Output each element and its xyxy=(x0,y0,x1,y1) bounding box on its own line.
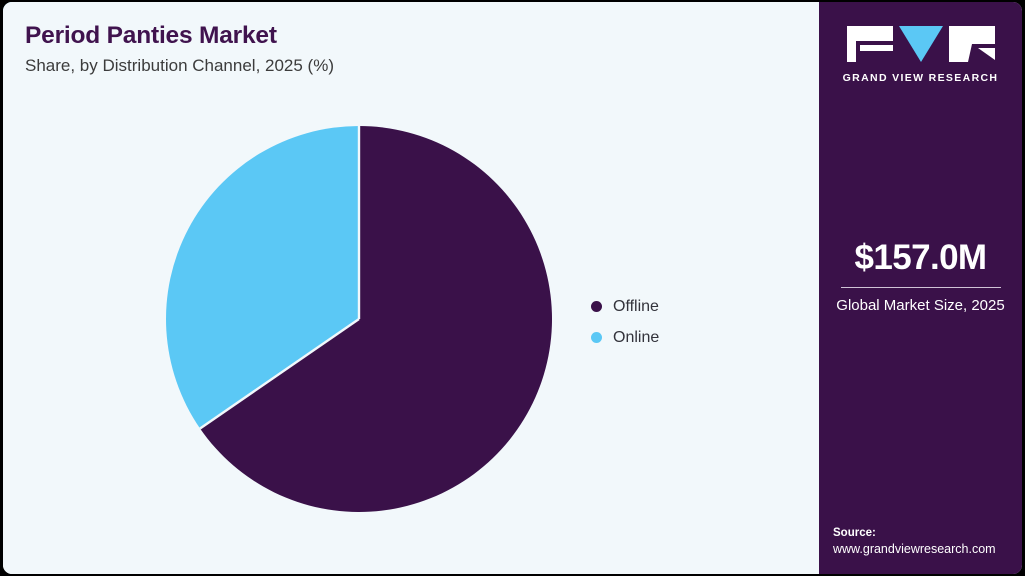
page-title: Period Panties Market xyxy=(25,22,785,50)
legend-swatch-icon-online xyxy=(591,332,602,343)
gvr-logo-icon xyxy=(847,24,995,64)
pie-chart xyxy=(163,123,555,515)
brand-logo: GRAND VIEW RESEARCH xyxy=(819,24,1022,84)
legend-swatch-icon-offline xyxy=(591,301,602,312)
chart-card: Period Panties Market Share, by Distribu… xyxy=(3,2,1022,574)
legend-label-online: Online xyxy=(613,329,659,347)
legend-item-online[interactable]: Online xyxy=(591,322,659,353)
chart-subtitle: Share, by Distribution Channel, 2025 (%) xyxy=(25,56,785,76)
source-block: Source: www.grandviewresearch.com xyxy=(833,526,1022,558)
legend-item-offline[interactable]: Offline xyxy=(591,291,659,322)
source-label: Source: xyxy=(833,526,1022,542)
legend-label-offline: Offline xyxy=(613,298,659,316)
market-size-value: $157.0M xyxy=(819,239,1022,278)
pie-chart-svg xyxy=(163,123,555,515)
source-url[interactable]: www.grandviewresearch.com xyxy=(833,541,1022,558)
brand-wordmark: GRAND VIEW RESEARCH xyxy=(819,72,1022,84)
chart-figure: Period Panties Market Share, by Distribu… xyxy=(0,0,1025,576)
legend: Offline Online xyxy=(591,291,659,353)
chart-panel: Period Panties Market Share, by Distribu… xyxy=(3,2,819,574)
stat-divider xyxy=(841,287,1001,289)
sidebar: GRAND VIEW RESEARCH $157.0M Global Marke… xyxy=(819,2,1022,574)
market-size-caption: Global Market Size, 2025 xyxy=(819,296,1022,316)
global-market-size-block: $157.0M Global Market Size, 2025 xyxy=(819,239,1022,316)
title-block: Period Panties Market Share, by Distribu… xyxy=(25,22,785,76)
